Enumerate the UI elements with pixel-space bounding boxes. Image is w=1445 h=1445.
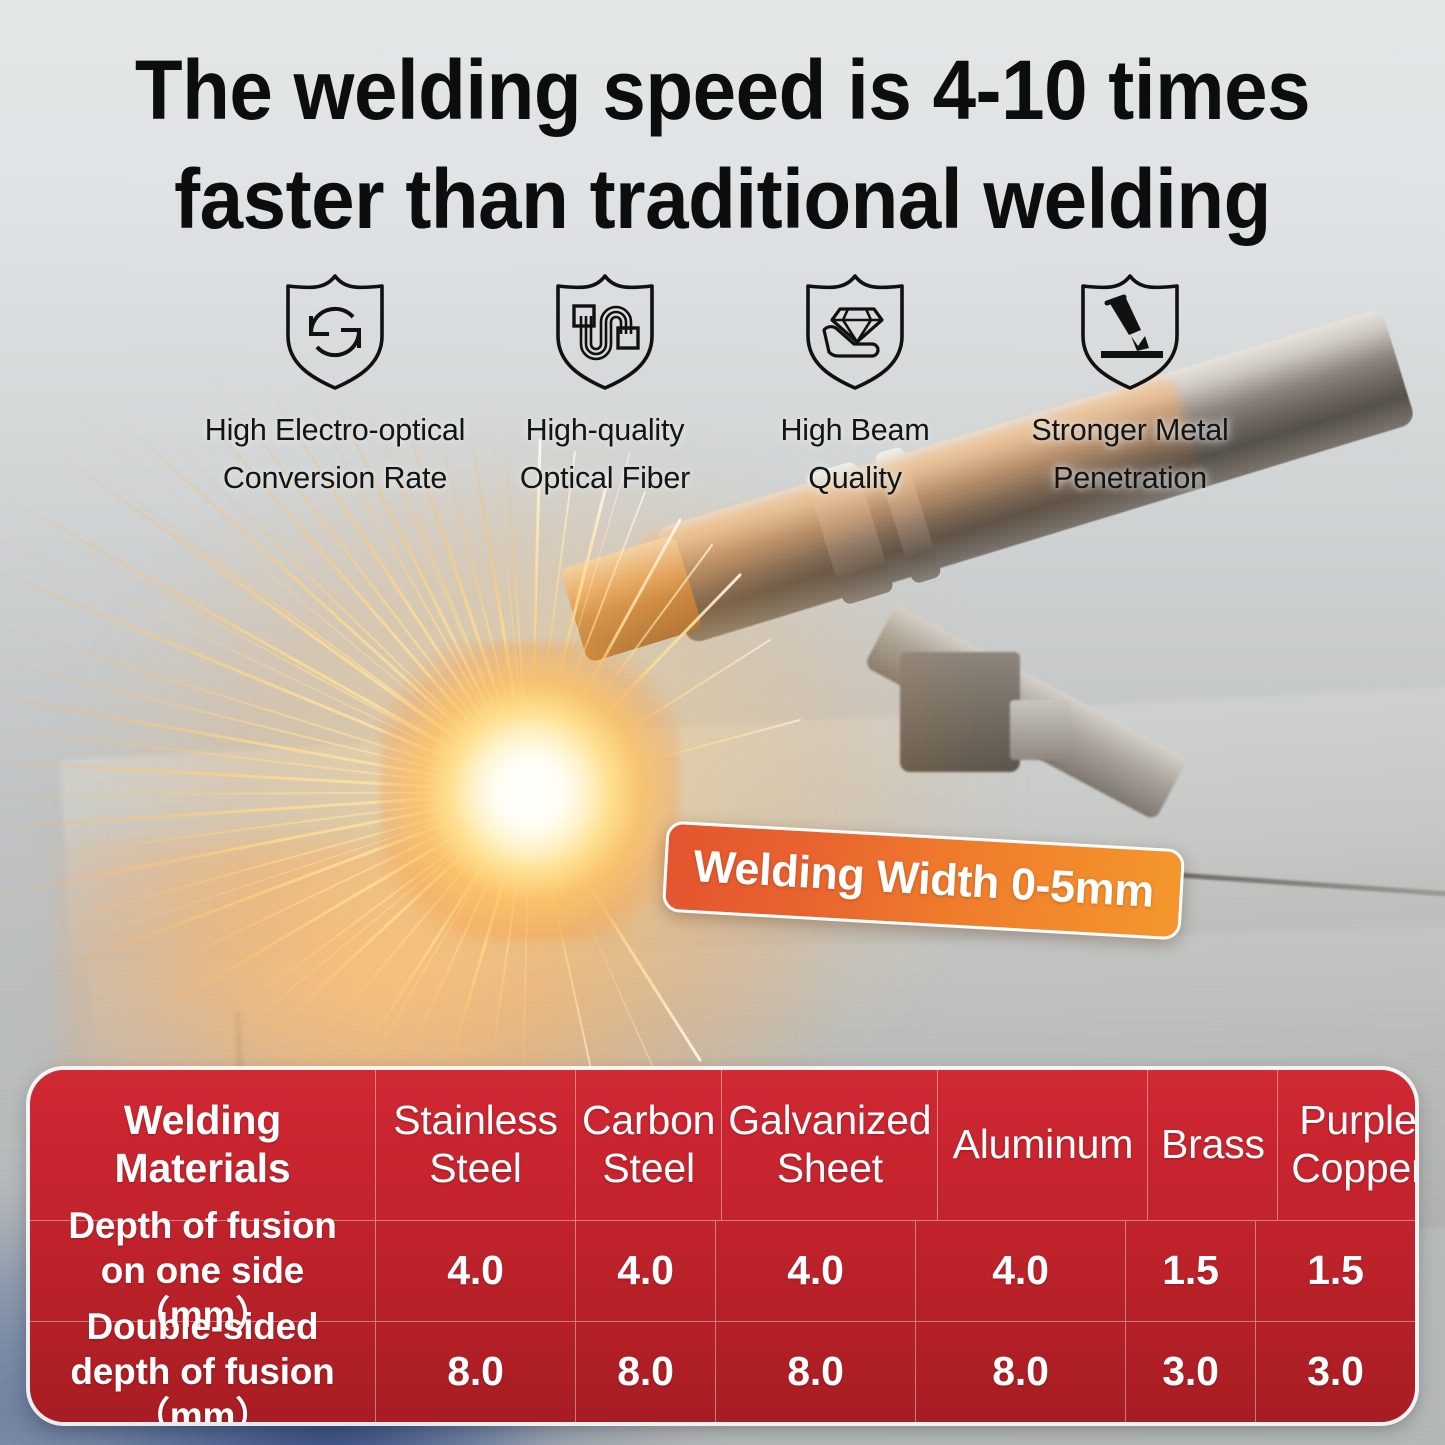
headline-line-2: faster than traditional welding	[51, 145, 1395, 254]
table-cell: 4.0	[715, 1221, 915, 1321]
table-cell: 8.0	[375, 1322, 575, 1422]
welding-torch-shield-icon	[1077, 272, 1183, 392]
table-cell: 1.5	[1255, 1221, 1415, 1321]
table-cell: 4.0	[375, 1221, 575, 1321]
table-header-cell-purple-copper: Purple Copper	[1277, 1070, 1415, 1220]
feature-item-beam-quality: High Beam Quality	[730, 272, 980, 502]
table-header-cell-galvanized-sheet: Galvanized Sheet	[721, 1070, 937, 1220]
table-cell: 4.0	[915, 1221, 1125, 1321]
table-cell: 4.0	[575, 1221, 715, 1321]
table-cell: 8.0	[715, 1322, 915, 1422]
welding-materials-table: Welding Materials Stainless Steel Carbon…	[30, 1070, 1415, 1422]
table-row-label-double-sided: Double-sided depth of fusion （mm）	[30, 1322, 375, 1422]
feature-item-conversion-rate: High Electro-optical Conversion Rate	[190, 272, 480, 502]
table-cell: 3.0	[1255, 1322, 1415, 1422]
headline: The welding speed is 4-10 times faster t…	[51, 36, 1395, 254]
table-cell: 3.0	[1125, 1322, 1255, 1422]
refresh-shield-icon	[282, 272, 388, 392]
feature-label: High-quality Optical Fiber	[520, 406, 690, 502]
feature-label: High Beam Quality	[780, 406, 929, 502]
table-header-cell-brass: Brass	[1147, 1070, 1277, 1220]
table-cell: 1.5	[1125, 1221, 1255, 1321]
feature-list: High Electro-optical Conversion Rate Hig…	[190, 272, 1280, 542]
headline-line-1: The welding speed is 4-10 times	[51, 36, 1395, 145]
product-infographic-poster: The welding speed is 4-10 times faster t…	[0, 0, 1445, 1445]
hand-diamond-shield-icon	[802, 272, 908, 392]
feature-label: Stronger Metal Penetration	[1031, 406, 1228, 502]
table-cell: 8.0	[575, 1322, 715, 1422]
feature-item-metal-penetration: Stronger Metal Penetration	[980, 272, 1280, 502]
table-header-cell-materials: Welding Materials	[30, 1070, 375, 1220]
table-header-cell-stainless-steel: Stainless Steel	[375, 1070, 575, 1220]
table-row: Double-sided depth of fusion （mm） 8.0 8.…	[30, 1321, 1415, 1422]
table-header-cell-aluminum: Aluminum	[937, 1070, 1147, 1220]
feature-label: High Electro-optical Conversion Rate	[205, 406, 465, 502]
table-header-cell-carbon-steel: Carbon Steel	[575, 1070, 721, 1220]
fiber-optic-shield-icon	[552, 272, 658, 392]
feature-item-optical-fiber: High-quality Optical Fiber	[480, 272, 730, 502]
table-cell: 8.0	[915, 1322, 1125, 1422]
table-header-row: Welding Materials Stainless Steel Carbon…	[30, 1070, 1415, 1220]
